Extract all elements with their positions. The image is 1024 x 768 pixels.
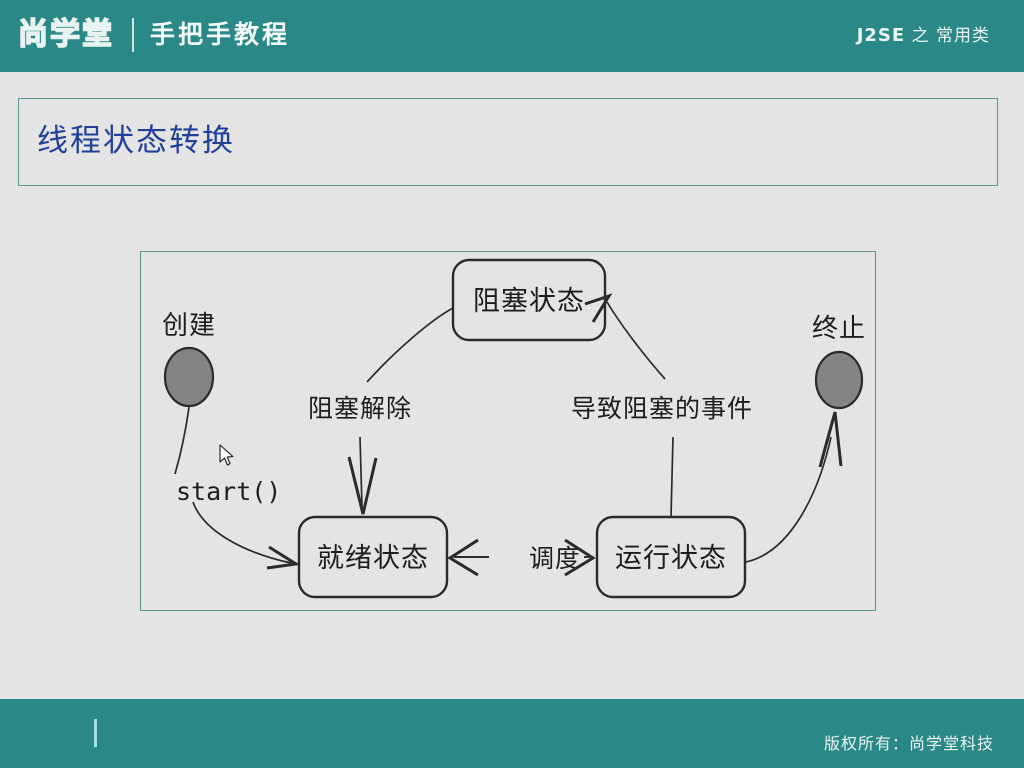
diagram-frame: 阻塞状态 就绪状态 运行状态 创建 终止 (140, 251, 876, 611)
course-subject: J2SE 之 常用类 (857, 21, 990, 46)
page-title: 线程状态转换 (37, 115, 235, 160)
node-created-shape (165, 348, 213, 406)
page-header: 尚学堂 手把手教程 J2SE 之 常用类 (0, 0, 1024, 72)
node-terminated-label: 终止 (812, 314, 866, 344)
node-created[interactable]: 创建 (162, 311, 216, 406)
edge-start-line-upper (175, 407, 189, 474)
edge-terminate (746, 412, 841, 562)
node-blocked[interactable]: 阻塞状态 (453, 260, 605, 340)
course-subject-suffix: 之 常用类 (912, 26, 990, 46)
node-created-label: 创建 (162, 311, 216, 341)
brand-logo[interactable]: 尚学堂 手把手教程 (14, 13, 290, 57)
node-running[interactable]: 运行状态 (597, 517, 745, 597)
node-terminated-shape (816, 352, 862, 408)
edge-unblock-label: 阻塞解除 (308, 394, 412, 423)
logo-wordmark: 尚学堂 (14, 13, 118, 57)
course-subject-prefix: J2SE (857, 25, 905, 46)
logo-tagline: 手把手教程 (150, 15, 290, 55)
node-ready-label: 就绪状态 (317, 543, 429, 574)
footer-copyright: 版权所有：尚学堂科技 (824, 730, 994, 754)
edge-start-label: start() (176, 477, 281, 506)
edge-blocking-event-line-upper (607, 302, 665, 379)
slide-body: 线程状态转换 阻塞状态 就绪状态 运行状态 创建 (0, 72, 1024, 699)
edge-unblock: 阻塞解除 (308, 308, 453, 514)
node-terminated[interactable]: 终止 (812, 314, 866, 408)
edge-schedule: 调度 (450, 540, 593, 575)
edge-blocking-event-line-lower (671, 437, 673, 517)
footer-caret (94, 719, 97, 747)
edge-terminate-line (746, 437, 831, 562)
edge-unblock-line-upper (367, 308, 453, 382)
logo-divider (132, 18, 134, 52)
slide-title-box: 线程状态转换 (18, 98, 998, 186)
edge-blocking-event-label: 导致阻塞的事件 (571, 394, 753, 423)
thread-state-diagram: 阻塞状态 就绪状态 运行状态 创建 终止 (141, 252, 875, 610)
node-running-label: 运行状态 (615, 543, 727, 574)
node-blocked-label: 阻塞状态 (473, 286, 585, 317)
edge-unblock-line-lower (360, 437, 362, 507)
node-ready[interactable]: 就绪状态 (299, 517, 447, 597)
edge-start-line-lower (193, 502, 291, 563)
edge-start: start() (175, 407, 296, 568)
